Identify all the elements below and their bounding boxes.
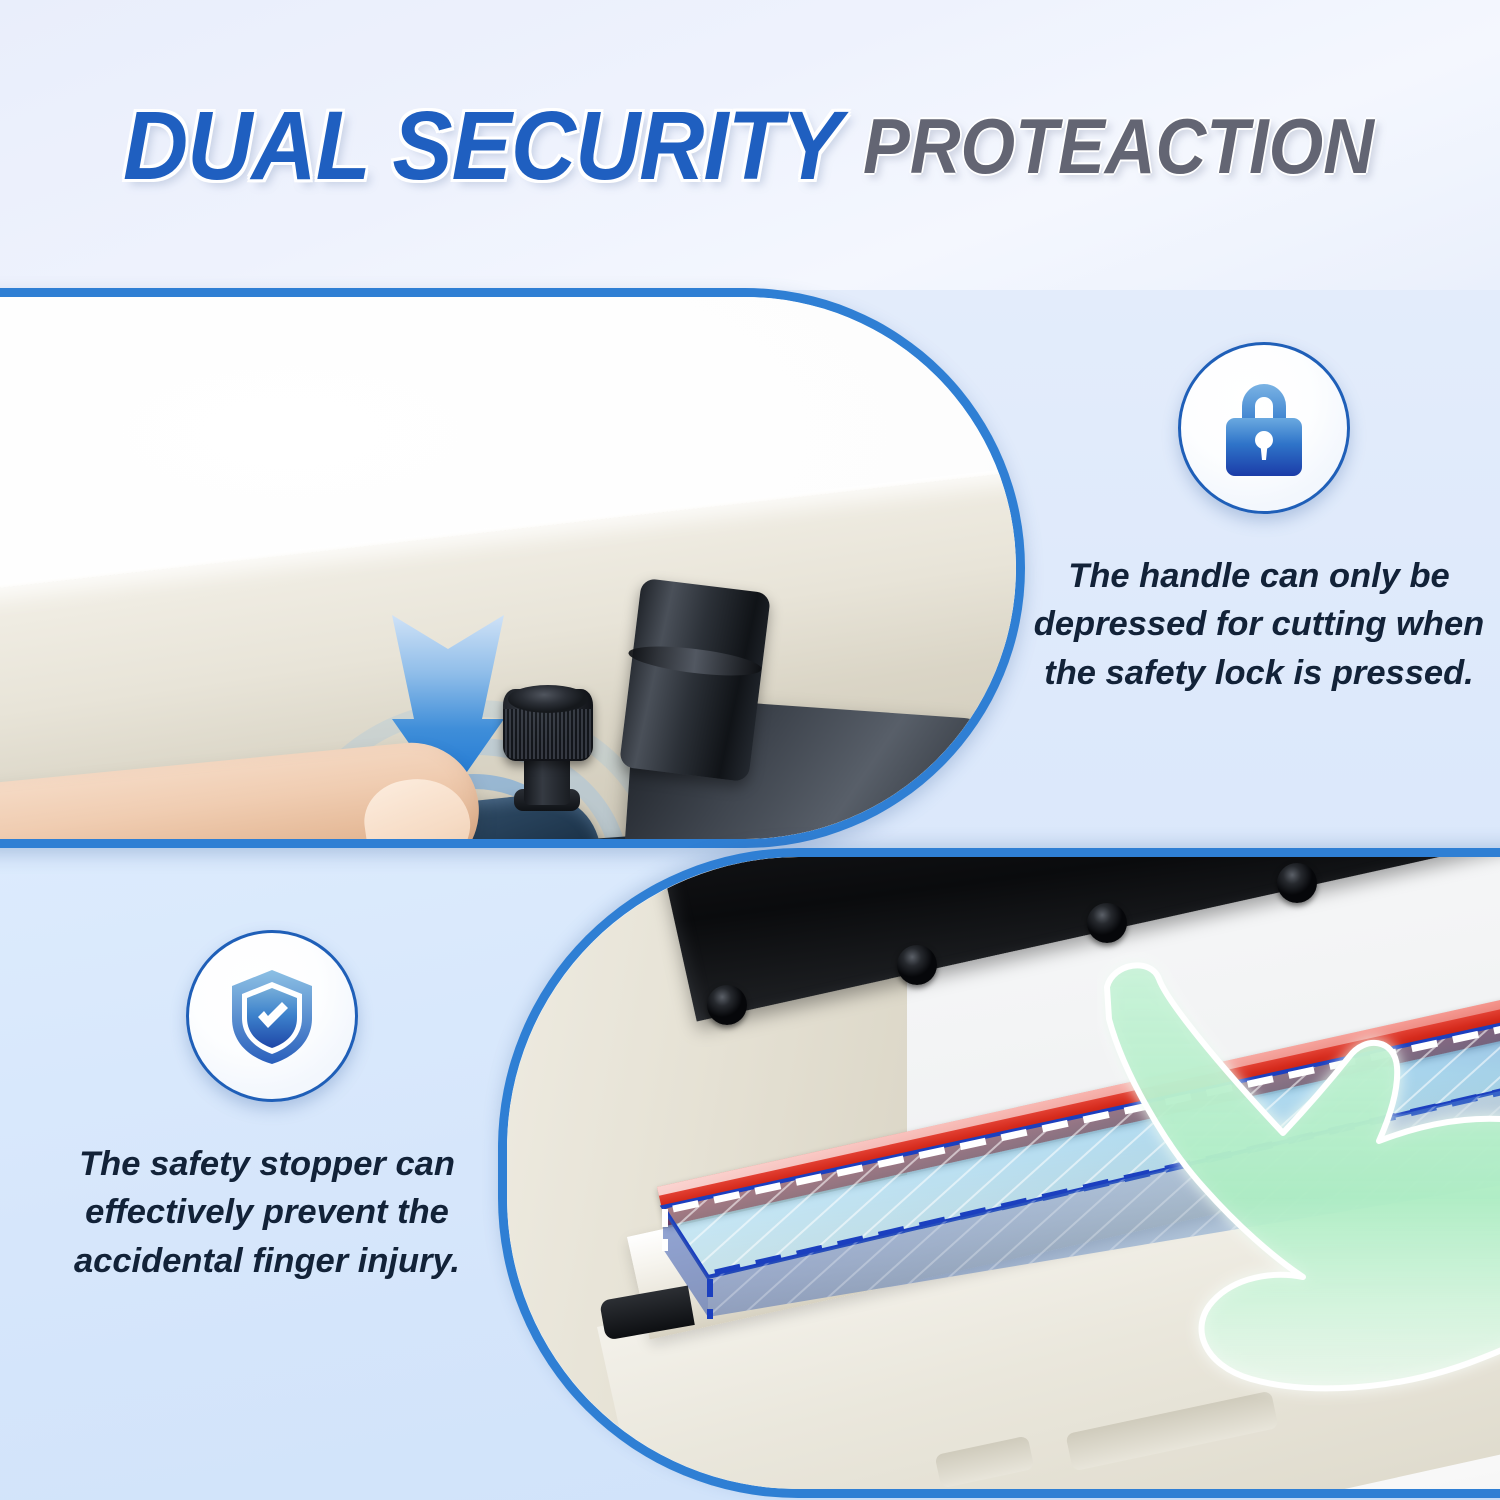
safety-stopper-caption: The safety stopper can effectively preve… [42, 1140, 492, 1285]
shield-check-icon [224, 964, 320, 1068]
headline-secondary: PROTEACTION [863, 107, 1374, 185]
safety-stopper-photo-panel [498, 848, 1500, 1498]
safety-lock-photo [0, 297, 1016, 839]
headline: DUAL SECURITY PROTEACTION [0, 88, 1500, 203]
shield-badge [186, 930, 358, 1102]
blocked-hand-silhouette [1097, 927, 1500, 1487]
knob-ridges [503, 709, 593, 759]
padlock-icon [1216, 376, 1312, 480]
safety-lock-photo-panel [0, 288, 1025, 848]
marketing-graphic: DUAL SECURITY PROTEACTION [0, 0, 1500, 1500]
safety-stopper-photo [507, 857, 1500, 1489]
knob-top-face [508, 685, 588, 713]
safety-lock-caption: The handle can only be depressed for cut… [1028, 552, 1490, 697]
handle-tube [619, 578, 771, 782]
padlock-badge [1178, 342, 1350, 514]
headline-primary: DUAL SECURITY [123, 97, 841, 194]
